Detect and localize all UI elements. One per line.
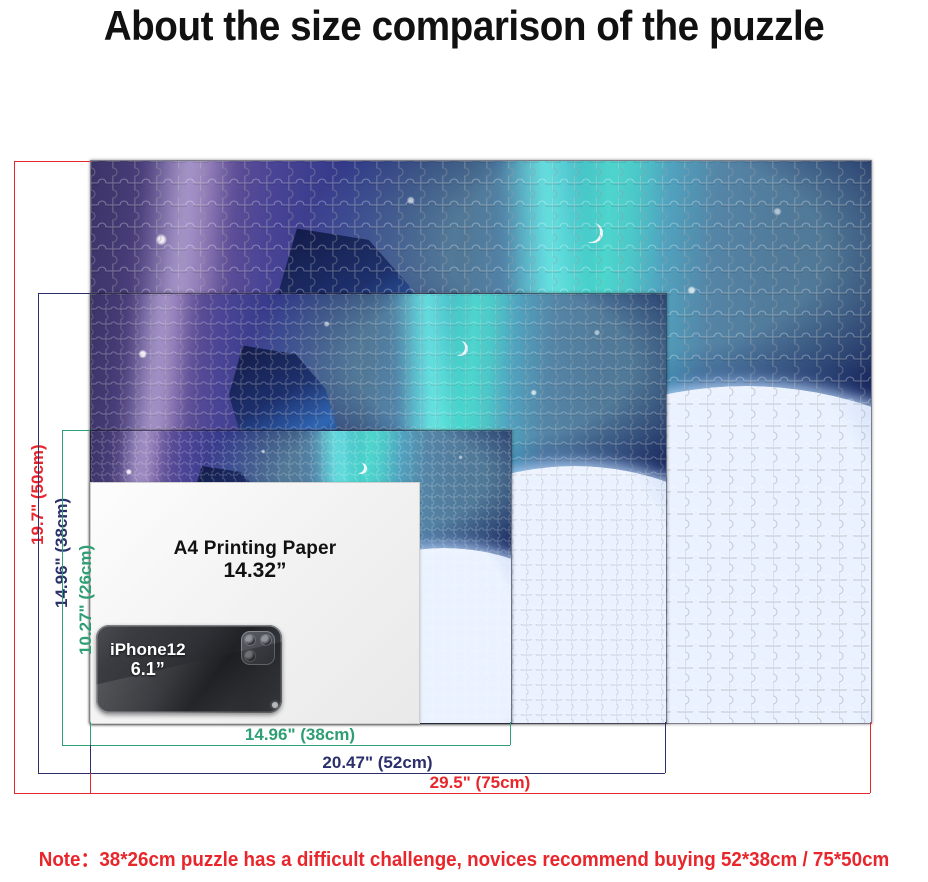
dim-large-width-label: 29.5" (75cm) [90, 773, 870, 793]
dim-large-height-bracket-spine [14, 161, 15, 793]
dim-small-height-bracket-spine [62, 430, 63, 745]
dim-large-height-tick-top [14, 161, 90, 162]
a4-paper-label-line1: A4 Printing Paper [91, 538, 419, 559]
dim-small-height-tick-top [62, 430, 90, 431]
iphone12-label-line1: iPhone12 [110, 641, 186, 660]
dim-medium-width-tick-right [665, 722, 666, 773]
page-title: About the size comparison of the puzzle [37, 2, 891, 50]
dim-small-height-tick-bottom [62, 745, 90, 746]
a4-paper-label-line2: 14.32” [91, 559, 419, 583]
dim-small-height-label: 10.27" (26cm) [76, 545, 96, 655]
dim-small-width-label: 14.96" (38cm) [90, 725, 510, 745]
dim-medium-height-bracket-spine [38, 293, 39, 773]
dim-small-width-tick-right [510, 722, 511, 745]
dim-medium-width-label: 20.47" (52cm) [90, 753, 665, 773]
iphone12-reference: iPhone12 6.1” [96, 625, 282, 713]
size-comparison-infographic: About the size comparison of the puzzle [0, 0, 928, 882]
dim-large-width-bracket-spine [90, 793, 870, 794]
iphone12-label: iPhone12 6.1” [110, 641, 186, 679]
crescent-moon-icon [356, 463, 367, 474]
dim-large-width-tick-right [870, 722, 871, 793]
dim-medium-height-tick-top [38, 293, 90, 294]
dim-large-height-tick-bottom [14, 793, 90, 794]
dim-medium-height-tick-bottom [38, 773, 90, 774]
crescent-moon-icon [582, 223, 602, 243]
camera-lens-icon [244, 634, 256, 646]
footer-note: Note：38*26cm puzzle has a difficult chal… [28, 843, 900, 872]
a4-paper-label: A4 Printing Paper 14.32” [91, 538, 419, 583]
iphone12-label-line2: 6.1” [110, 660, 186, 680]
dim-small-width-bracket-spine [90, 745, 510, 746]
